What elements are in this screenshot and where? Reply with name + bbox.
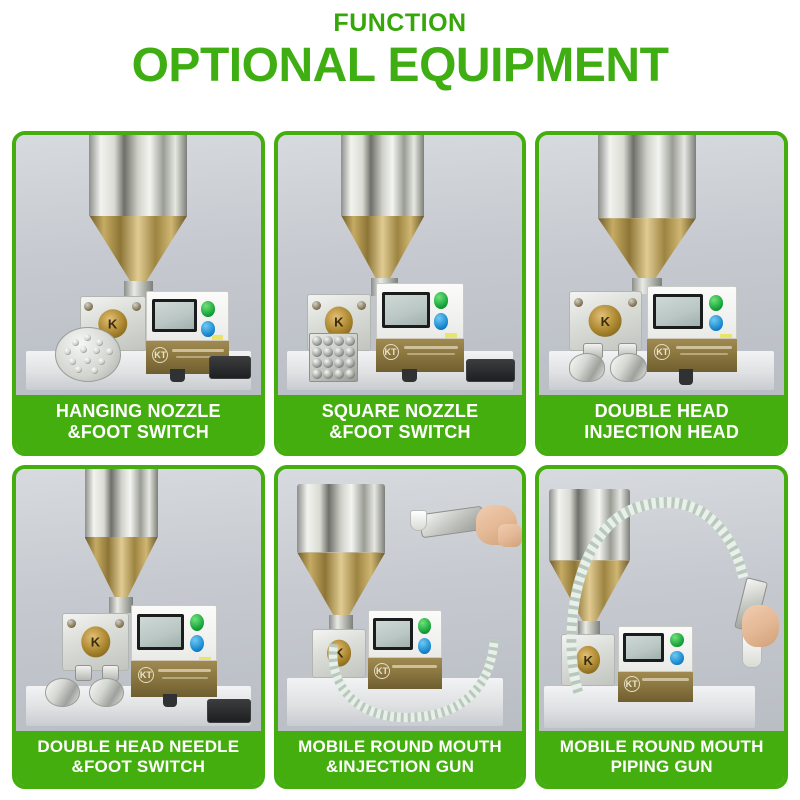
hopper-neck <box>109 597 133 613</box>
kt-mark: KT <box>152 347 168 363</box>
card-caption: DOUBLE HEAD INJECTION HEAD <box>539 395 784 451</box>
needle-head-right <box>89 678 123 707</box>
hopper-cone <box>598 218 696 280</box>
gun-nozzle-tip <box>410 510 427 531</box>
brand-plate: KT <box>131 660 217 697</box>
caption-line-1: MOBILE ROUND MOUTH <box>298 737 502 756</box>
card-caption: MOBILE ROUND MOUTH &INJECTION GUN <box>278 731 523 785</box>
card-caption: SQUARE NOZZLE &FOOT SWITCH <box>278 395 523 451</box>
equipment-card-double-head-injection[interactable]: K KT <box>535 131 788 456</box>
machine-foot <box>170 369 185 382</box>
machine-foot <box>163 694 178 707</box>
caption-line-1: HANGING NOZZLE <box>56 401 221 421</box>
injection-gun-body <box>418 506 484 538</box>
needle-head-left <box>45 678 79 707</box>
hopper-cylinder <box>89 135 187 216</box>
hmi-touchscreen <box>152 299 197 333</box>
product-photo-hanging-nozzle: K <box>16 135 261 395</box>
equipment-card-mobile-piping-gun[interactable]: K KT <box>535 465 788 790</box>
machine-illustration: K KT <box>539 135 784 395</box>
caption-line-2: INJECTION HEAD <box>543 422 780 443</box>
pump-body: K <box>569 291 642 351</box>
hopper-cone <box>85 537 158 600</box>
foot-switch-pedal <box>207 699 251 723</box>
pump-body: K <box>62 613 128 671</box>
hmi-touchscreen <box>382 292 430 329</box>
hopper-cone <box>89 216 187 284</box>
green-start-button <box>190 614 204 631</box>
operator-arm <box>498 524 522 548</box>
bolt-icon <box>132 302 141 311</box>
brand-plate-wrap: KT <box>376 338 464 372</box>
green-start-button <box>434 292 448 308</box>
machine-illustration: K KT <box>16 469 261 731</box>
hopper-cone <box>341 216 424 281</box>
blue-stop-button <box>709 315 723 331</box>
promo-banner: FUNCTION OPTIONAL EQUIPMENT K <box>0 0 800 800</box>
equipment-card-hanging-nozzle[interactable]: K <box>12 131 265 456</box>
green-start-button <box>709 295 723 311</box>
bolt-icon <box>357 301 366 310</box>
hopper-cylinder <box>598 135 696 218</box>
kt-mark: KT <box>654 344 670 360</box>
equipment-grid: K <box>12 131 788 789</box>
hopper-cylinder <box>341 135 424 216</box>
bolt-icon <box>115 619 124 628</box>
bolt-icon <box>84 302 93 311</box>
caption-line-1: DOUBLE HEAD <box>595 401 729 421</box>
bolt-icon <box>628 298 637 307</box>
machine-illustration: K K <box>278 135 523 395</box>
needle-clamp <box>75 665 92 681</box>
caption-line-2: &FOOT SWITCH <box>282 422 519 443</box>
blue-stop-button <box>434 313 448 329</box>
product-photo-double-head-needle: K KT <box>16 469 261 731</box>
caption-line-1: MOBILE ROUND MOUTH <box>560 737 764 756</box>
card-caption: HANGING NOZZLE &FOOT SWITCH <box>16 395 261 451</box>
machine-illustration: K <box>16 135 261 395</box>
card-caption: MOBILE ROUND MOUTH PIPING GUN <box>539 731 784 785</box>
header-eyebrow: FUNCTION <box>0 10 800 36</box>
brand-logo: K <box>81 626 110 657</box>
brand-plate: KT <box>647 338 738 372</box>
kt-mark: KT <box>138 667 154 683</box>
machine-foot <box>402 369 417 382</box>
injection-head-right <box>610 353 647 382</box>
card-caption: DOUBLE HEAD NEEDLE &FOOT SWITCH <box>16 731 261 785</box>
green-start-button <box>201 301 215 317</box>
product-photo-square-nozzle: K K <box>278 135 523 395</box>
equipment-card-mobile-injection-gun[interactable]: K KT <box>274 465 527 790</box>
brand-plate-wrap: KT <box>131 660 217 697</box>
caption-line-2: PIPING GUN <box>543 757 780 777</box>
equipment-card-double-head-needle[interactable]: K KT <box>12 465 265 790</box>
blue-stop-button <box>190 635 204 652</box>
caption-line-1: DOUBLE HEAD NEEDLE <box>37 737 239 756</box>
injection-head-left <box>569 353 606 382</box>
operator-hand <box>742 605 779 647</box>
caption-line-2: &FOOT SWITCH <box>20 757 257 777</box>
page-title: OPTIONAL EQUIPMENT <box>0 40 800 93</box>
brand-plate: KT <box>376 338 464 372</box>
foot-switch-pedal <box>209 356 251 379</box>
hopper-cylinder <box>297 484 385 552</box>
caption-line-1: SQUARE NOZZLE <box>322 401 479 421</box>
flexible-hose <box>322 621 518 726</box>
bolt-icon <box>312 301 321 310</box>
brand-plate-wrap: KT <box>647 338 738 372</box>
bolt-icon <box>67 619 76 628</box>
product-photo-mobile-injection-gun: K KT <box>278 469 523 731</box>
hopper-cone <box>297 552 385 618</box>
hanging-nozzle-disc <box>55 327 121 382</box>
brand-logo: K <box>589 305 622 337</box>
kt-mark: KT <box>383 344 399 360</box>
caption-line-2: &FOOT SWITCH <box>20 422 257 443</box>
equipment-card-square-nozzle[interactable]: K K <box>274 131 527 456</box>
banner-header: FUNCTION OPTIONAL EQUIPMENT <box>0 0 800 93</box>
machine-illustration: K KT <box>539 469 784 731</box>
caption-line-2: &INJECTION GUN <box>282 757 519 777</box>
product-photo-mobile-piping-gun: K KT <box>539 469 784 731</box>
foot-switch-pedal <box>466 359 515 382</box>
square-nozzle-block <box>309 333 358 382</box>
bolt-icon <box>574 298 583 307</box>
machine-illustration: K KT <box>278 469 523 731</box>
hmi-touchscreen <box>653 294 703 329</box>
hopper-cylinder <box>85 469 158 537</box>
product-photo-double-head-injection: K KT <box>539 135 784 395</box>
hmi-touchscreen <box>137 614 184 651</box>
machine-foot <box>679 369 694 385</box>
